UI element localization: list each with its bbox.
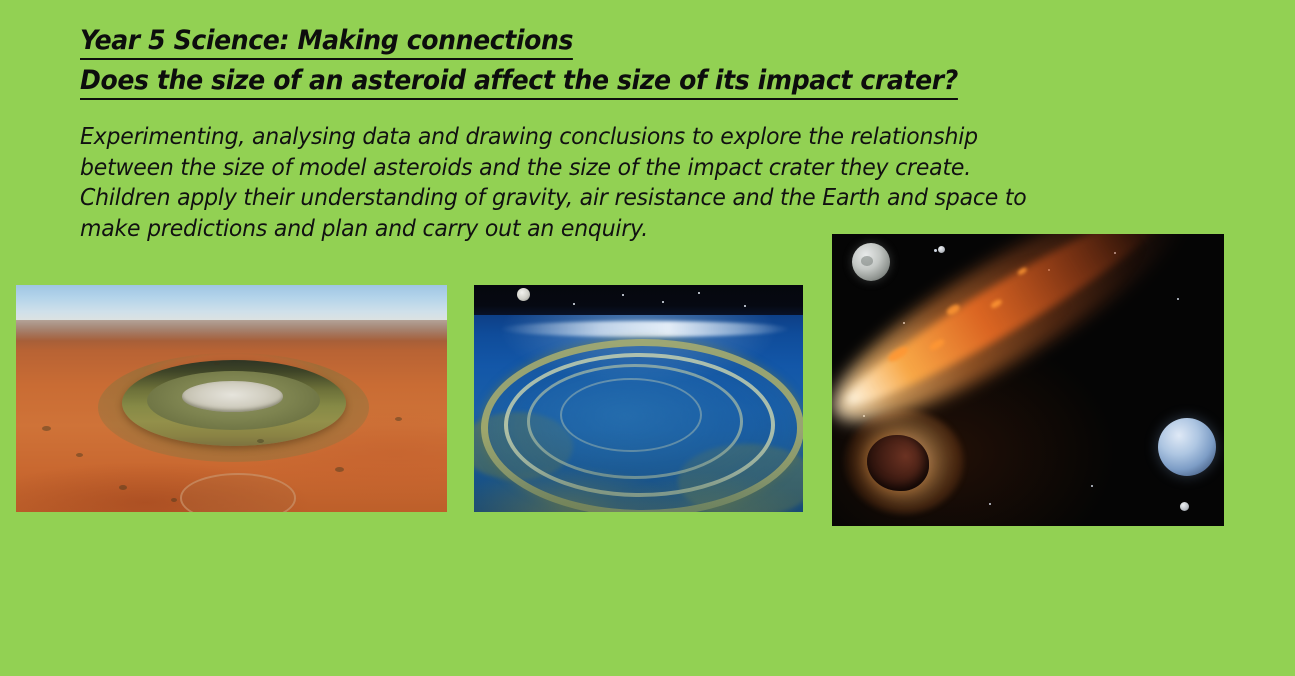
asteroid-body	[867, 435, 929, 491]
title-line-question: Does the size of an asteroid affect the …	[80, 64, 958, 100]
orbit-star	[698, 292, 700, 294]
title-line-subject: Year 5 Science: Making connections	[80, 24, 573, 60]
body-line-1: Experimenting, analysing data and drawin…	[80, 122, 1092, 153]
desert-horizon-haze	[16, 320, 447, 340]
desert-scrub	[42, 426, 51, 431]
image-watermark	[941, 362, 952, 392]
desert-track	[180, 473, 296, 512]
desert-scrub	[395, 417, 402, 421]
image-desert-impact-crater	[16, 285, 447, 512]
body-line-3: Children apply their understanding of gr…	[80, 183, 1092, 214]
slide-body-text: Experimenting, analysing data and drawin…	[80, 122, 1140, 244]
desert-sky	[16, 285, 447, 322]
orbit-star	[662, 301, 664, 303]
orbit-star	[573, 303, 575, 305]
star	[1091, 485, 1093, 487]
image-burning-asteroid	[832, 234, 1224, 526]
desert-scrub	[335, 467, 344, 472]
crater-floor	[182, 381, 283, 412]
orbit-coastal-terrain	[474, 430, 803, 512]
slide-canvas: Year 5 Science: Making connections Does …	[0, 0, 1295, 676]
slide-title-block: Year 5 Science: Making connections Does …	[80, 24, 1200, 100]
star	[989, 503, 991, 505]
body-line-2: between the size of model asteroids and …	[80, 153, 1092, 184]
image-orbital-impact-crater	[474, 285, 803, 512]
